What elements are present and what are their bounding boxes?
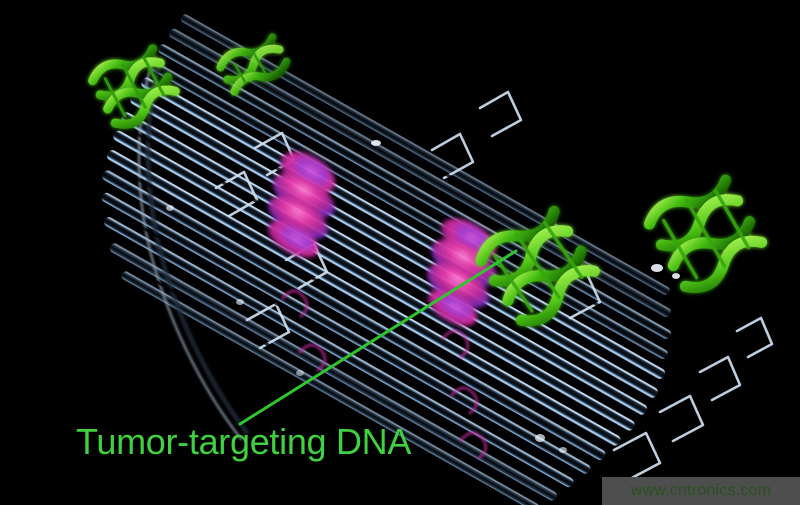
rod [139,76,667,381]
cargo-cluster-lower [402,210,518,334]
glint [166,205,174,211]
glint [651,264,663,272]
glint [296,370,304,376]
glint [559,447,567,453]
glint [672,273,680,279]
annotation-label: Tumor-targeting DNA [76,424,411,460]
hairpin-turn [614,433,660,480]
watermark-badge: www.cntronics.com [602,477,800,505]
dna-helix-right [645,172,767,295]
image-canvas: Tumor-targeting DNA www.cntronics.com [0,0,800,505]
hairpin-turn [480,92,521,136]
watermark-text: www.cntronics.com [631,482,771,500]
glint [371,140,381,146]
glint [236,299,244,305]
hairpin-turn [700,357,740,400]
glint [535,434,545,442]
hairpin-turn [737,318,772,357]
hairpin-turn [660,396,703,441]
